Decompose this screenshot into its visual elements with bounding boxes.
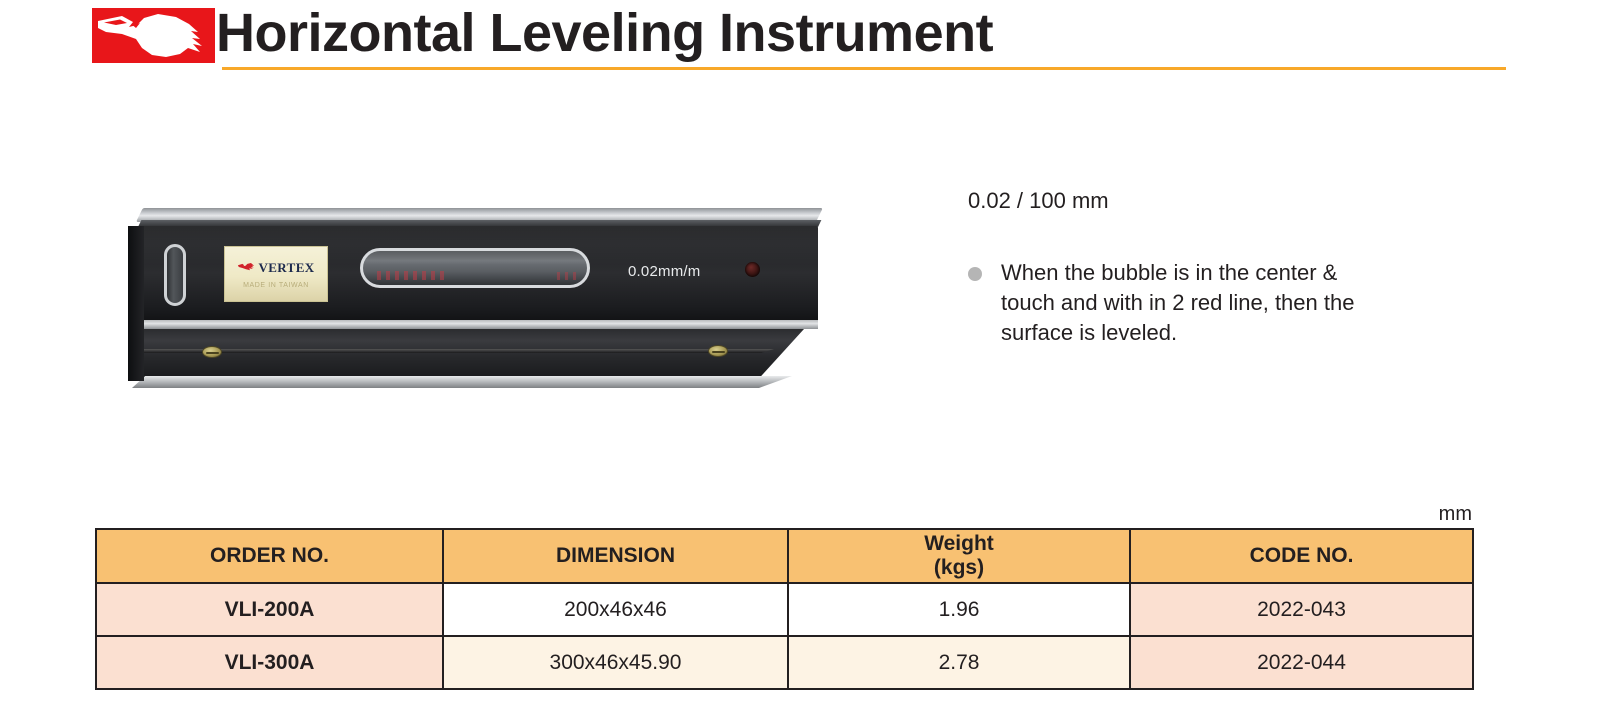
side-vial-port-icon [745,262,760,277]
cell-weight: 2.78 [788,636,1130,689]
brand-name: VERTEX [258,260,314,276]
main-vial-window [360,248,590,288]
origin-text: MADE IN TAIWAN [243,282,309,289]
cell-dimension: 300x46x45.90 [443,636,788,689]
cell-dimension: 200x46x46 [443,583,788,636]
column-header-weight-line2: (kgs) [793,556,1125,580]
column-header-order-no: ORDER NO. [96,529,443,583]
column-header-weight: Weight (kgs) [788,529,1130,583]
column-header-dimension: DIMENSION [443,529,788,583]
accuracy-value: 0.02 / 100 mm [968,186,1488,216]
specification-table: ORDER NO. DIMENSION Weight (kgs) CODE NO… [95,528,1474,690]
table-row: VLI-300A 300x46x45.90 2.78 2022-044 [96,636,1473,689]
cell-code-no: 2022-044 [1130,636,1473,689]
page-title: Horizontal Leveling Instrument [216,2,993,64]
table-header-row: ORDER NO. DIMENSION Weight (kgs) CODE NO… [96,529,1473,583]
cross-vial-window [164,244,186,306]
specification-text-block: 0.02 / 100 mm When the bubble is in the … [968,186,1488,348]
base-screw-left-icon [202,346,222,358]
title-underline-rule [222,67,1506,70]
vial-graduation-marks-right [557,272,579,280]
vertex-brand-label: VERTEX MADE IN TAIWAN [224,246,328,302]
unit-label: mm [1390,503,1472,526]
leveling-instrument-illustration: VERTEX MADE IN TAIWAN 0.02mm/m [128,200,828,400]
product-datasheet-page: Horizontal Leveling Instrument VERTEX MA… [0,0,1600,705]
usage-note-text: When the bubble is in the center & touch… [1001,260,1354,345]
vertex-eagle-mini-icon [237,262,255,273]
cell-order-no: VLI-200A [96,583,443,636]
column-header-weight-line1: Weight [793,532,1125,556]
vial-graduation-marks [377,271,447,280]
cell-code-no: 2022-043 [1130,583,1473,636]
column-header-code-no: CODE NO. [1130,529,1473,583]
product-image: VERTEX MADE IN TAIWAN 0.02mm/m [110,190,850,410]
brand-label-row: VERTEX [237,260,314,276]
vertex-eagle-logo-icon [92,8,215,63]
cell-order-no: VLI-300A [96,636,443,689]
cell-weight: 1.96 [788,583,1130,636]
bullet-icon [968,267,982,281]
level-mid-strip [128,320,818,329]
level-base-groove [134,349,774,353]
level-base-bottom-edge [132,376,792,388]
page-header: Horizontal Leveling Instrument [0,0,1600,80]
usage-note: When the bubble is in the center & touch… [968,258,1488,348]
body-marking-text: 0.02mm/m [628,263,700,280]
level-left-end-cap [128,226,144,381]
table-row: VLI-200A 200x46x46 1.96 2022-043 [96,583,1473,636]
vial-gloss [363,251,587,265]
base-screw-right-icon [708,345,728,357]
level-base-body [128,329,804,381]
